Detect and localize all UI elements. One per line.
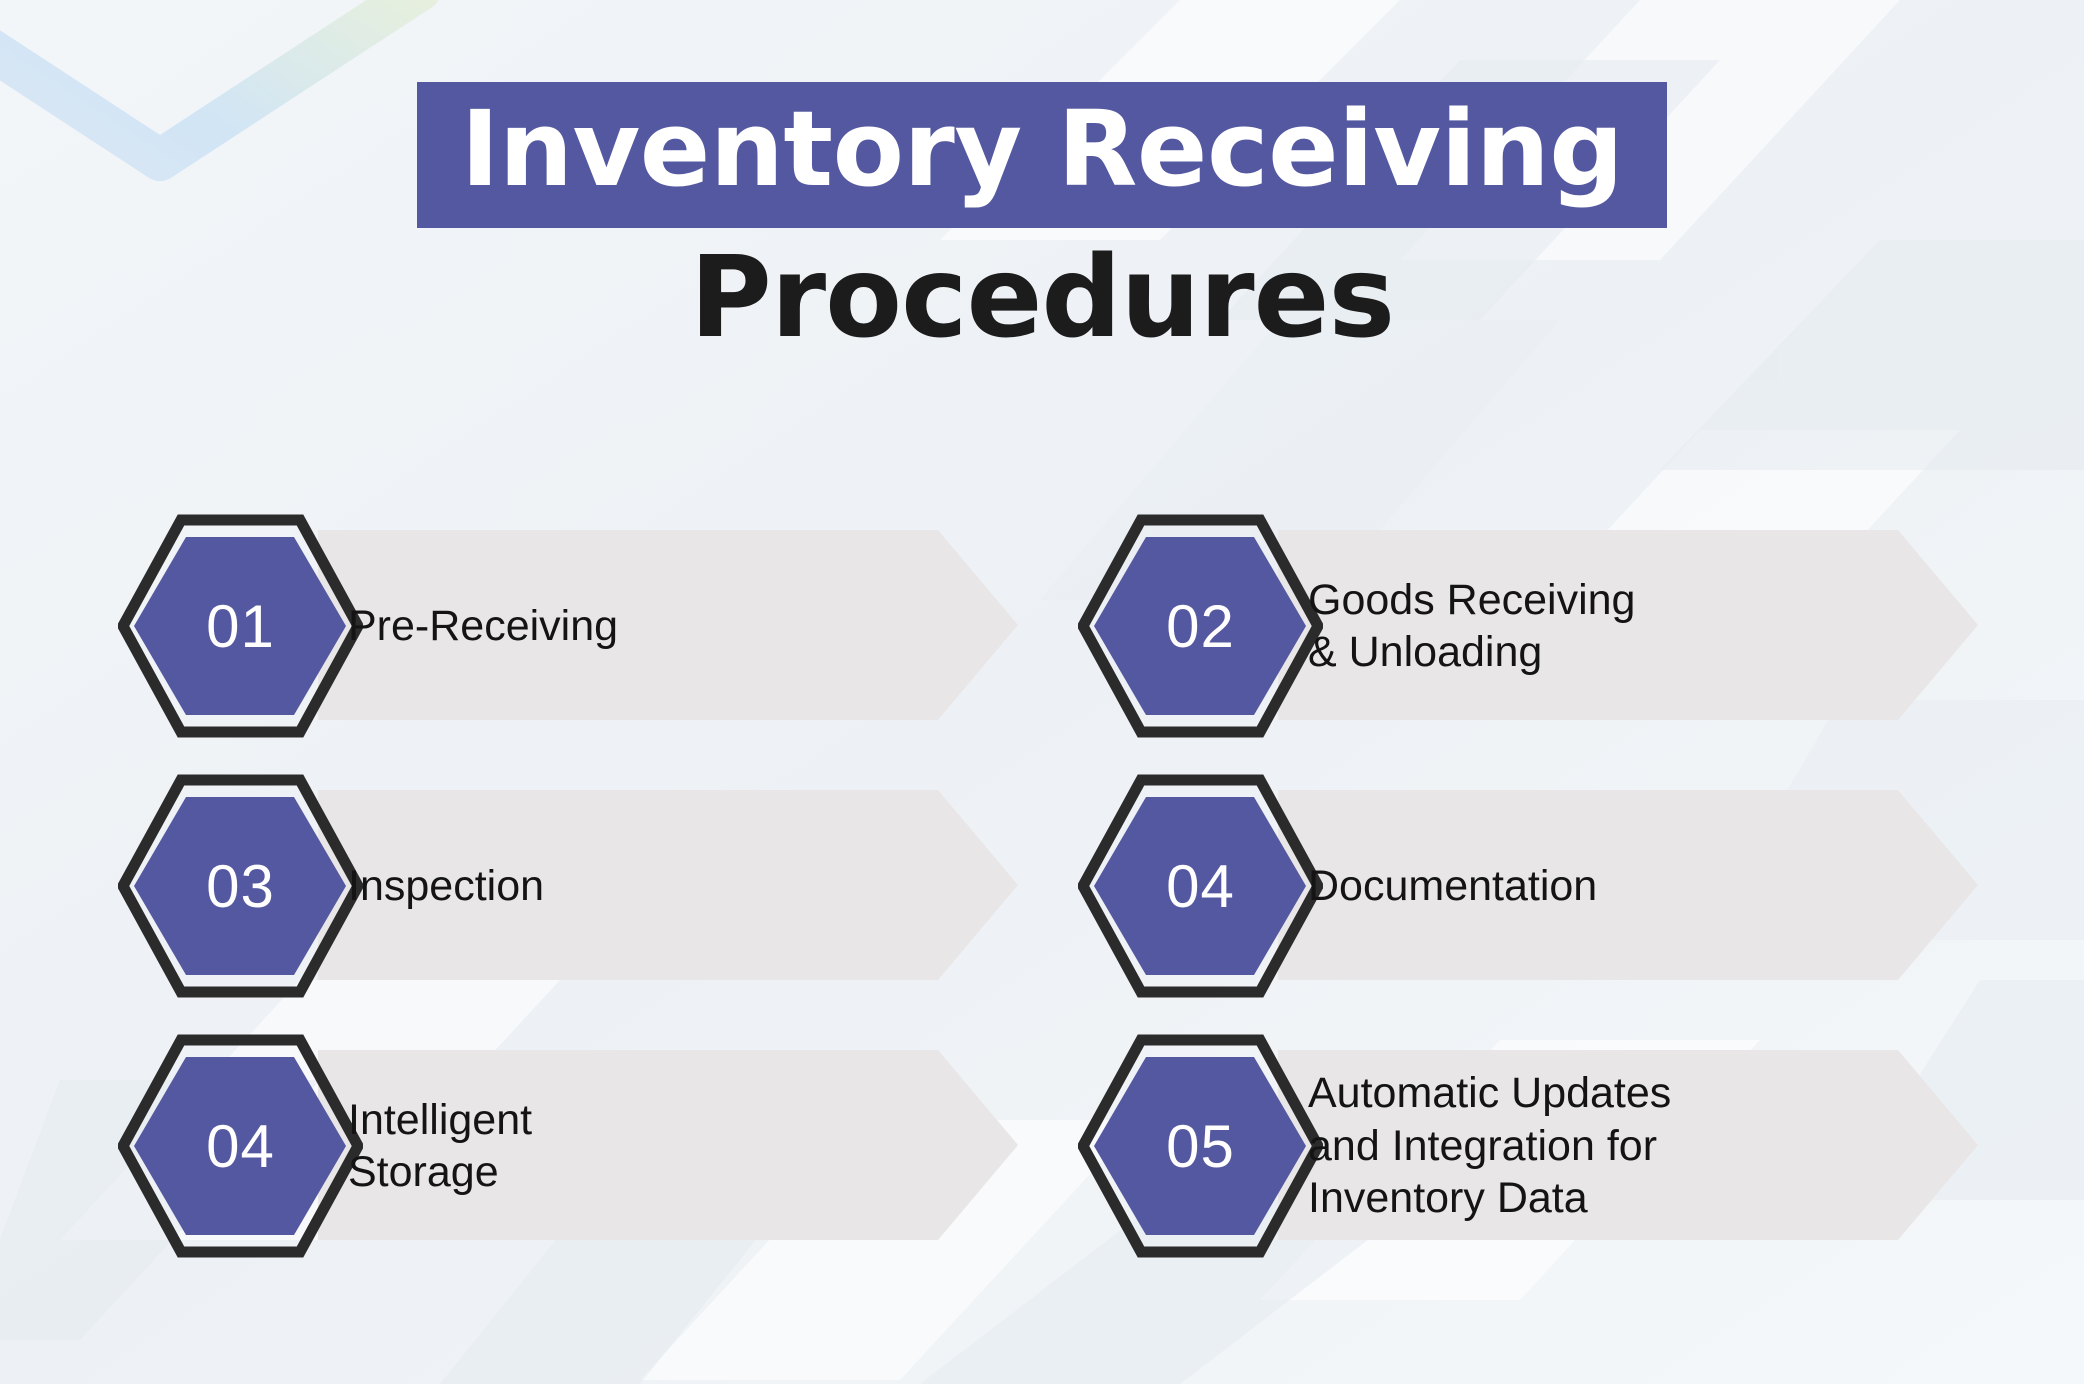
step-hexagon-badge: [1078, 772, 1323, 1000]
step-hexagon-badge: [118, 772, 363, 1000]
step-label: Inspection: [348, 772, 988, 1000]
step-item[interactable]: 02 Goods Receiving & Unloading: [1078, 512, 1978, 740]
step-hexagon-badge: [118, 512, 363, 740]
step-hexagon-badge: [1078, 1032, 1323, 1260]
step-hexagon-badge: [1078, 512, 1323, 740]
page-title: Inventory Receiving: [461, 96, 1623, 202]
step-label: Automatic Updates and Integration for In…: [1308, 1032, 1948, 1260]
step-item[interactable]: 05 Automatic Updates and Integration for…: [1078, 1032, 1978, 1260]
step-item[interactable]: 04 Documentation: [1078, 772, 1978, 1000]
step-item[interactable]: 01 Pre-Receiving: [118, 512, 1018, 740]
step-item[interactable]: 03 Inspection: [118, 772, 1018, 1000]
step-label: Intelligent Storage: [348, 1032, 988, 1260]
step-item[interactable]: 04 Intelligent Storage: [118, 1032, 1018, 1260]
step-label: Pre-Receiving: [348, 512, 988, 740]
steps-grid: 01 Pre-Receiving 02 Goods Receiving & Un…: [118, 512, 1978, 1260]
page-subtitle: Procedures: [0, 242, 2084, 354]
title-band: Inventory Receiving: [417, 82, 1667, 228]
page-header: Inventory Receiving Procedures: [0, 0, 2084, 354]
infographic-canvas: Inventory Receiving Procedures 01 Pre-Re…: [0, 0, 2084, 1384]
step-label: Goods Receiving & Unloading: [1308, 512, 1948, 740]
step-label: Documentation: [1308, 772, 1948, 1000]
step-hexagon-badge: [118, 1032, 363, 1260]
